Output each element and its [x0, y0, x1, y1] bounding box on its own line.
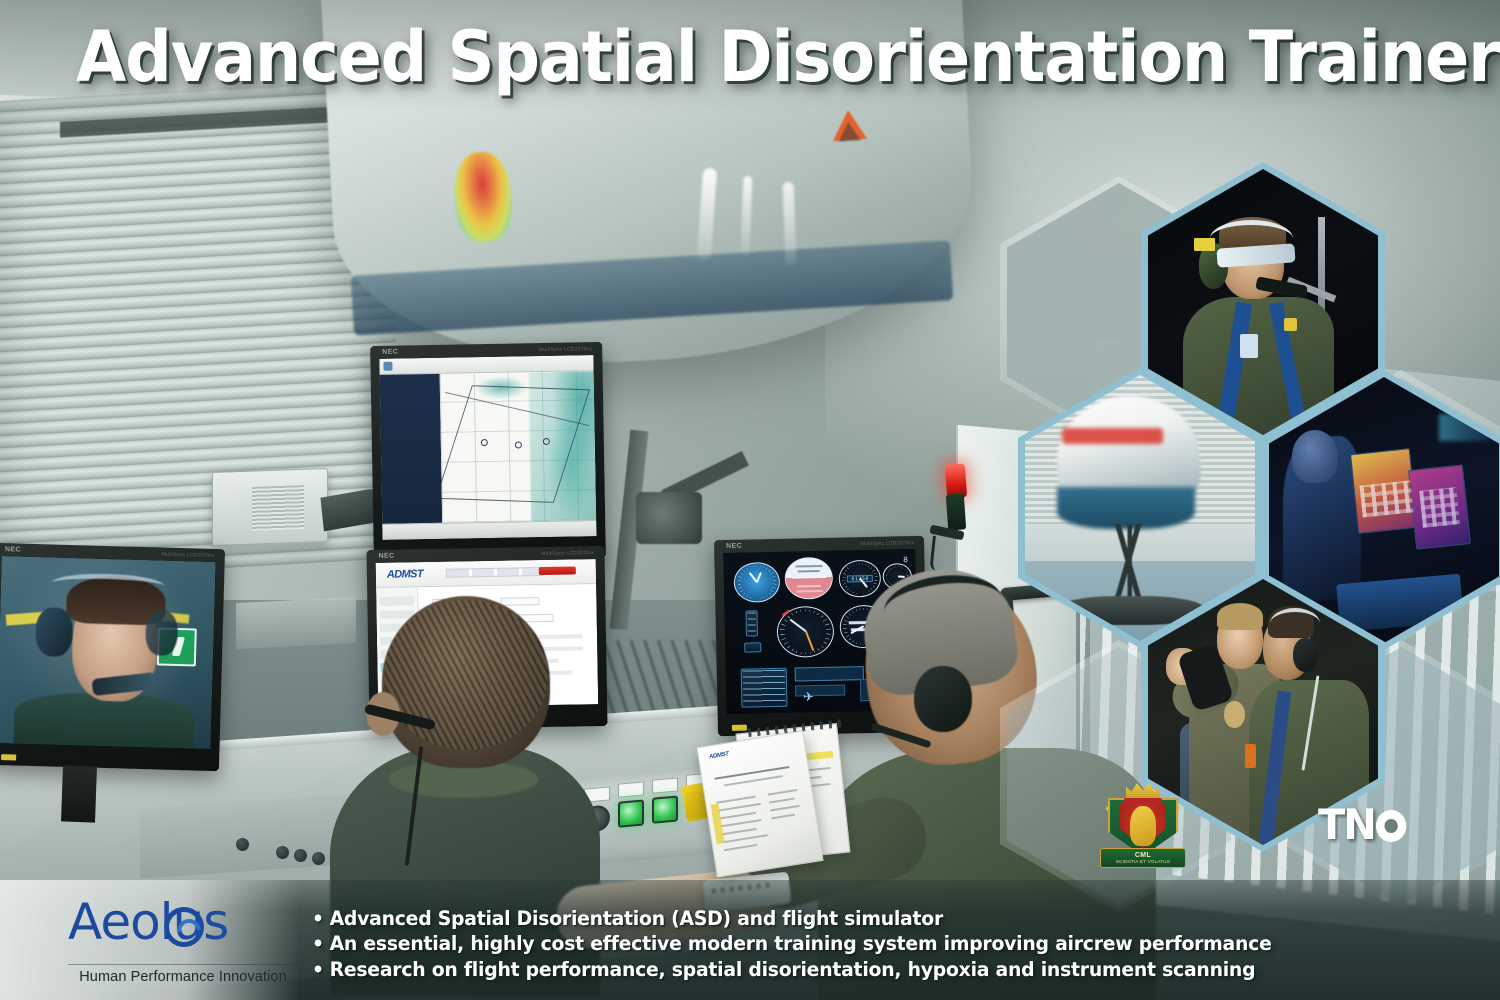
tno-wordmark: TN	[1318, 800, 1375, 849]
photo-instructor-hair	[1217, 603, 1263, 630]
photo-lower-console	[1336, 574, 1464, 633]
photo-equipment-handle	[1245, 744, 1257, 768]
aeolus-logo: Aeolus	[68, 894, 294, 956]
bullet-marker: •	[312, 906, 324, 932]
photo-headset-earcup	[1293, 638, 1318, 673]
bottom-banner: Aeolus Human Performance Innovation •Adv…	[0, 880, 1500, 1000]
photo-motion-platform-legs	[1071, 524, 1191, 598]
bullet-text: Research on flight performance, spatial …	[330, 958, 1256, 981]
crest-crown-icon	[1126, 780, 1160, 800]
crest-name: CML	[1135, 852, 1151, 859]
bullet-marker: •	[312, 931, 324, 957]
crest-motto: SCIENTIA ET VOLATUS	[1116, 859, 1170, 865]
photo-uniform-patch	[1224, 701, 1245, 728]
hexagon-cluster: ✈	[0, 0, 1500, 1000]
tno-o-icon	[1376, 810, 1406, 842]
bullet-text: Advanced Spatial Disorientation (ASD) an…	[330, 907, 943, 930]
tno-logo: TN	[1318, 800, 1406, 849]
photo-gondola-blue-band	[1057, 487, 1195, 530]
spiral-swirl-icon	[164, 907, 204, 947]
aeolus-tagline: Human Performance Innovation	[68, 964, 298, 985]
crest-lion	[1130, 806, 1156, 846]
list-item: •Advanced Spatial Disorientation (ASD) a…	[312, 906, 1272, 932]
bullet-marker: •	[312, 957, 324, 983]
page-title: Advanced Spatial Disorientation Trainer	[76, 16, 1499, 98]
photo-uniform-patch	[1240, 334, 1258, 358]
bullet-list: •Advanced Spatial Disorientation (ASD) a…	[312, 906, 1306, 983]
military-crest-icon: CML SCIENTIA ET VOLATUS	[1100, 772, 1186, 868]
list-item: •Research on flight performance, spatial…	[312, 957, 1272, 983]
list-item: •An essential, highly cost effective mod…	[312, 931, 1272, 957]
photo-uniform-patch	[1284, 318, 1298, 331]
photo-pilot-helmet	[1292, 430, 1338, 483]
photo-mfd-soft-keys	[1359, 481, 1413, 518]
photo-gondola-red-band	[1062, 428, 1163, 444]
bullet-text: An essential, highly cost effective mode…	[330, 932, 1272, 955]
poster: NEC MultiSync LCD2070nx	[0, 0, 1500, 1000]
crest-crown-band	[1124, 798, 1162, 804]
photo-equipment-tag	[1194, 238, 1215, 251]
photo-goggles-icon	[1216, 243, 1295, 267]
photo-headset-band	[1270, 608, 1321, 640]
crest-motto-scroll: CML SCIENTIA ET VOLATUS	[1100, 848, 1186, 868]
photo-mfd-soft-keys	[1419, 487, 1459, 528]
